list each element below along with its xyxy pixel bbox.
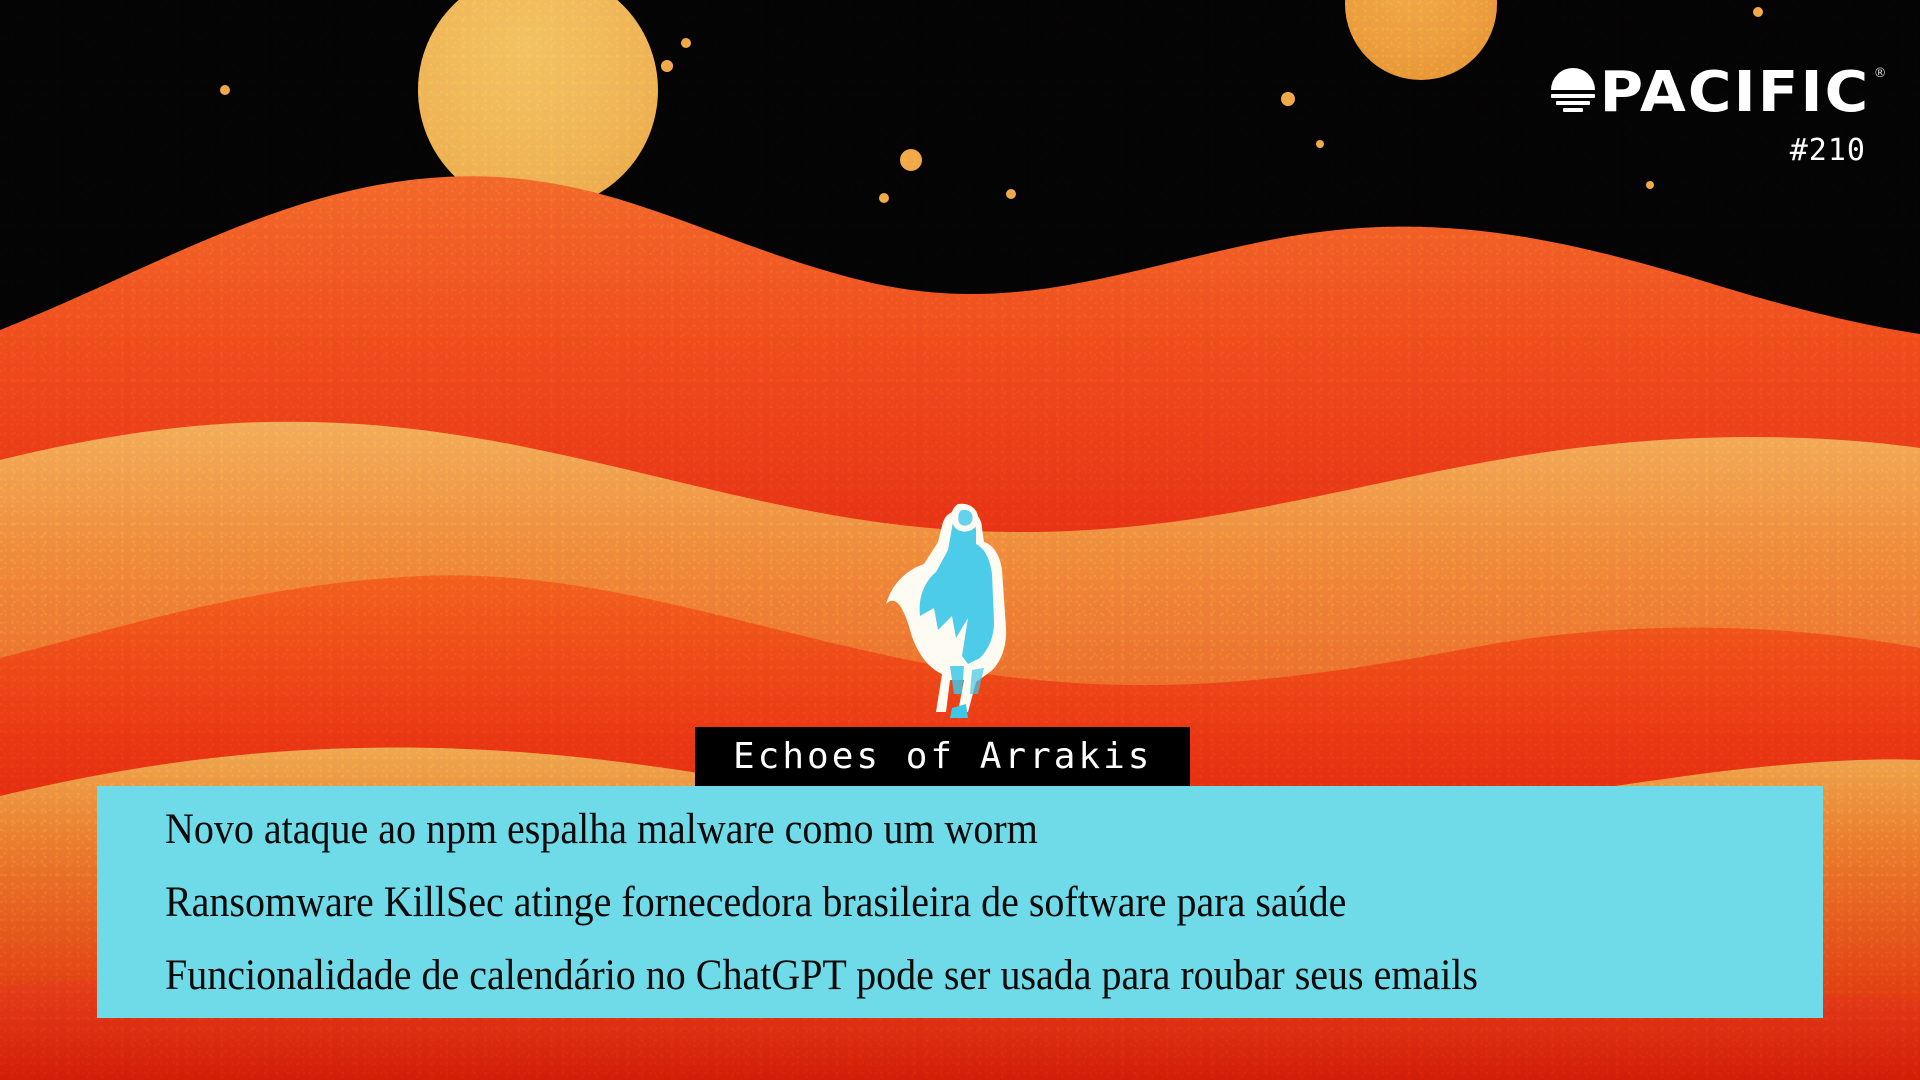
issue-title: Echoes of Arrakis — [733, 737, 1152, 777]
title-banner: Echoes of Arrakis — [695, 727, 1190, 789]
star-dot — [220, 85, 230, 95]
headline-item[interactable]: Funcionalidade de calendário no ChatGPT … — [165, 954, 1707, 997]
robed-walker-figure — [872, 498, 1036, 722]
setting-sun-logo-icon — [1545, 62, 1601, 123]
brand-row: PACIFIC ® — [1545, 62, 1870, 123]
headline-item[interactable]: Novo ataque ao npm espalha malware como … — [165, 808, 1707, 851]
brand-wordmark: PACIFIC ® — [1599, 65, 1870, 121]
star-dot — [1753, 7, 1763, 17]
issue-number: #210 — [1545, 133, 1866, 168]
star-dot — [661, 60, 673, 72]
star-dot — [1281, 92, 1295, 106]
registered-trademark-symbol: ® — [1874, 67, 1887, 80]
star-dot — [681, 38, 691, 48]
newsletter-cover: PACIFIC ® #210 Echoes of Arrakis Novo at… — [0, 0, 1920, 1080]
headline-panel: Novo ataque ao npm espalha malware como … — [97, 786, 1823, 1018]
brand-block: PACIFIC ® #210 — [1545, 62, 1870, 168]
headline-item[interactable]: Ransomware KillSec atinge fornecedora br… — [165, 881, 1707, 924]
brand-wordmark-text: PACIFIC — [1599, 60, 1870, 125]
